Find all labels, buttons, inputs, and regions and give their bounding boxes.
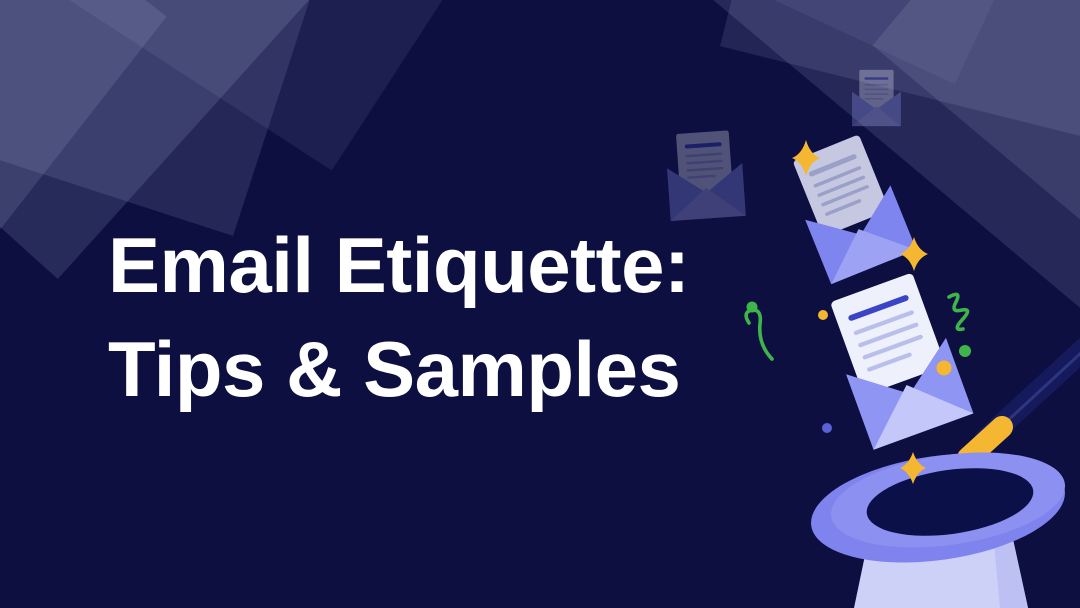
top-left-translucent-square-4	[0, 0, 560, 170]
dot-blue-small	[822, 423, 832, 433]
envelope-faded-small-top	[665, 130, 746, 221]
title-line-1: Email Etiquette:	[108, 214, 828, 318]
top-right-translucent-square-3	[873, 0, 1080, 257]
top-right-translucent-square-4	[656, 0, 1080, 84]
dot-yellow-envelope	[937, 361, 952, 376]
sparkle-lower	[899, 442, 921, 466]
magic-wand	[968, 348, 1080, 458]
sparkle-upper	[792, 140, 820, 176]
page-title: Email Etiquette: Tips & Samples	[108, 214, 828, 421]
envelope-faded-small-upper-right	[852, 70, 901, 126]
dot-green-right	[959, 345, 971, 357]
title-line-2: Tips & Samples	[108, 318, 828, 422]
top-right-translucent-square-2	[720, 0, 1080, 160]
magic-top-hat	[804, 439, 1072, 608]
slide-canvas: Email Etiquette: Tips & Samples	[0, 0, 1080, 608]
envelope-primary-lower	[821, 269, 973, 449]
sparkle-mid	[900, 452, 926, 484]
top-left-translucent-square-2	[0, 0, 366, 236]
sparkle-right	[900, 237, 928, 271]
squiggle-zigzag-green	[949, 294, 968, 329]
